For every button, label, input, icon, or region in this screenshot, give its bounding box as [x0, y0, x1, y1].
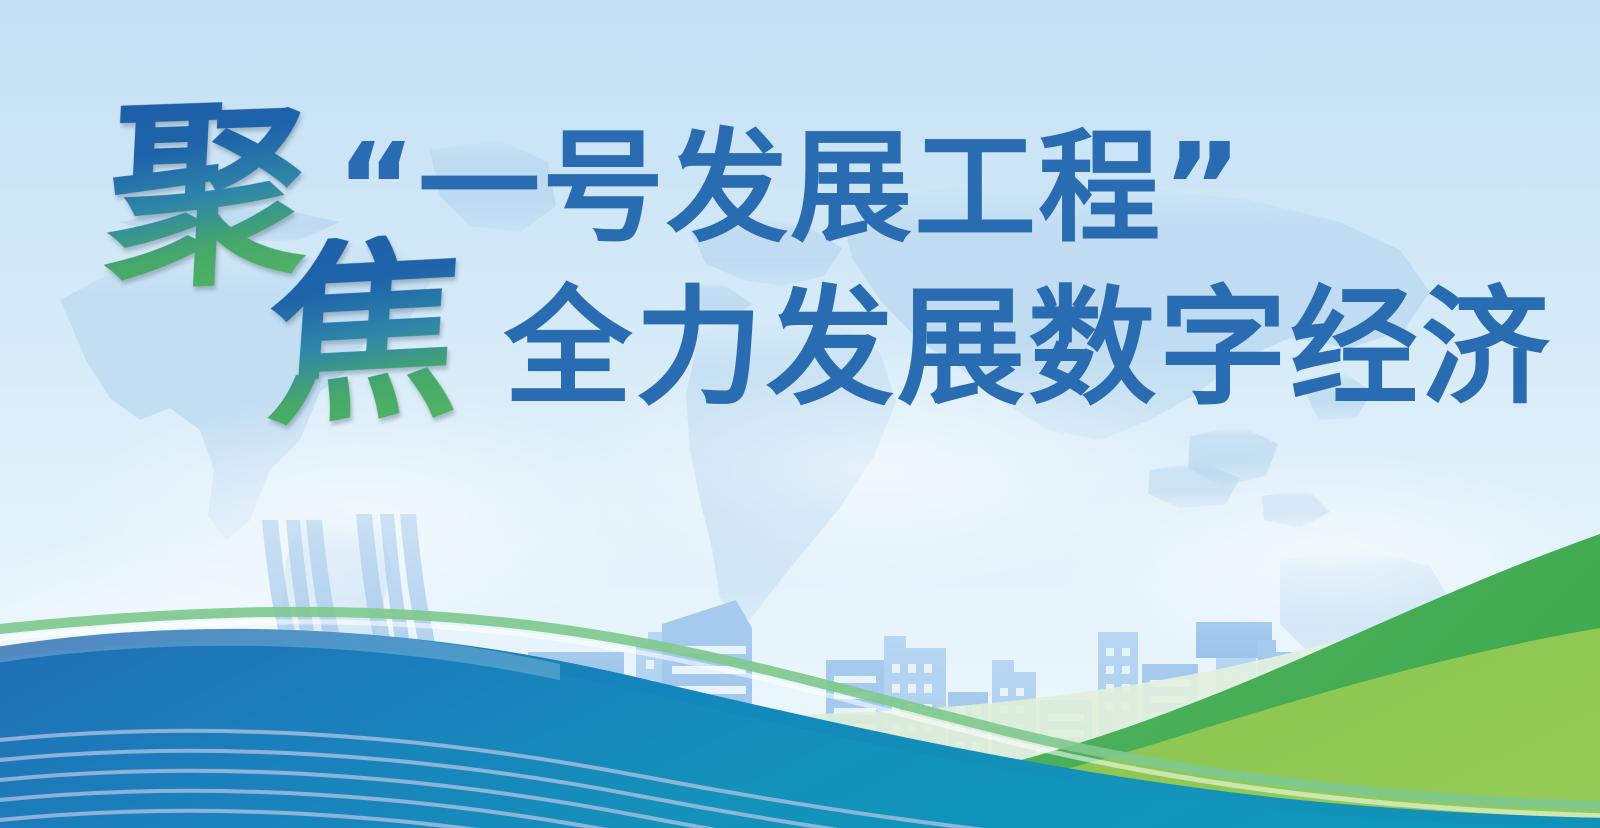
- brush-char-jiao: 焦 焦: [268, 235, 503, 465]
- brush-char-jiao-fill: 焦: [261, 229, 511, 436]
- wave-front-group: [0, 642, 1600, 828]
- digital-economy-banner: 聚 聚 焦 焦 “一号发展工程” 全力发展数字经济: [0, 0, 1600, 828]
